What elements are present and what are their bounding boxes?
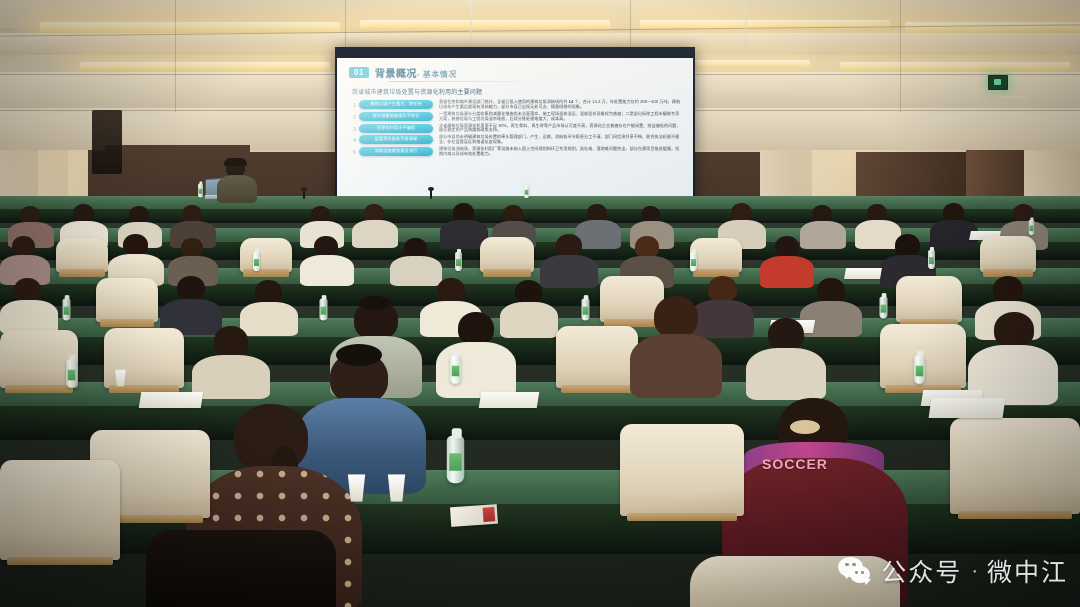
paper-sheet — [479, 392, 540, 408]
microphone — [430, 190, 432, 199]
booklet — [450, 504, 498, 527]
item-paragraph: 我省住房和城乡建设部门统计，全省已投入使用的建筑垃圾消纳场所共 14 个，合计 … — [433, 100, 683, 110]
attendee — [192, 326, 270, 396]
item-badge: 建筑垃圾产生量大、增长快 — [359, 100, 433, 109]
water-bottle — [690, 252, 697, 271]
table-skirt — [0, 209, 1080, 223]
hair-clip-icon — [360, 296, 390, 310]
water-bottle — [455, 252, 462, 271]
slide-item: 2 源头减量措施落实不到位 一是建筑垃圾源头分类收集和减量化措施尚未全面落实，施… — [350, 112, 683, 122]
jacket-text: SOCCER — [762, 456, 828, 472]
projector-screen: 01 背景概况- 基本情况 我省城市建筑垃圾处置与资源化利用的主要问题 1 建筑… — [337, 58, 693, 208]
chair — [0, 460, 120, 560]
wall-trim — [1000, 96, 1028, 98]
water-bottle — [66, 359, 77, 388]
slide-item: 3 资源化利用水平偏低 全省建筑垃圾资源化利用率不足 30%，再生骨料、再生砖等… — [350, 124, 683, 134]
ceiling-light-cove — [840, 62, 1070, 71]
chair — [950, 418, 1080, 514]
item-index: 4 — [350, 135, 359, 144]
hair-tie-icon — [790, 420, 820, 434]
item-badge: 消纳设施规划建设滞后 — [359, 147, 433, 156]
item-paragraph: 全省建筑垃圾资源化利用率不足 30%，再生骨料、再生砖等产品市场认可度不高，资源… — [433, 124, 683, 134]
water-bottle — [62, 299, 70, 321]
hair-scrunchie-icon — [336, 344, 382, 366]
item-paragraph: 部分市县尚未明确建筑垃圾处置的牵头管理部门，产生、运输、消纳各环节职责分工不清，… — [433, 135, 683, 145]
item-badge: 资源化利用水平偏低 — [359, 124, 433, 133]
attendee — [930, 203, 978, 247]
attendee — [108, 234, 164, 284]
slide-number-badge: 01 — [349, 67, 369, 78]
water-bottle — [1029, 220, 1035, 235]
presentation-slide: 01 背景概况- 基本情况 我省城市建筑垃圾处置与资源化利用的主要问题 1 建筑… — [337, 58, 693, 208]
water-bottle — [914, 355, 925, 384]
title-underline — [389, 81, 539, 82]
slide-item: 5 消纳设施规划建设滞后 建筑垃圾消纳场、资源化利用厂等设施未纳入国土空间规划和… — [350, 147, 683, 157]
attendee — [0, 236, 50, 282]
item-paragraph: 建筑垃圾消纳场、资源化利用厂等设施未纳入国土空间规划和环卫专项规划，选址难、落地… — [433, 147, 683, 157]
item-badge: 监管责任链条不够清晰 — [359, 135, 433, 144]
attendee — [436, 312, 516, 396]
table-top — [0, 196, 1080, 210]
attendee — [0, 278, 58, 332]
slide-item: 4 监管责任链条不够清晰 部分市县尚未明确建筑垃圾处置的牵头管理部门，产生、运输… — [350, 135, 683, 145]
water-bottle — [253, 252, 260, 271]
attendee — [540, 234, 598, 286]
water-bottle — [447, 436, 465, 484]
watermark-separator: · — [971, 560, 978, 583]
paper-sheet — [929, 398, 1006, 418]
ceiling-light-cove — [80, 62, 330, 71]
chair — [556, 326, 638, 388]
water-bottle — [581, 299, 589, 321]
presenter — [215, 160, 259, 202]
item-badge: 源头减量措施落实不到位 — [359, 112, 433, 121]
water-bottle — [450, 355, 461, 384]
attendee — [968, 312, 1058, 402]
watermark: 公众号 · 微中江 — [838, 553, 1068, 589]
chair — [104, 328, 184, 388]
chair — [690, 238, 742, 272]
attendee — [440, 203, 488, 247]
wechat-logo-icon — [838, 557, 872, 585]
water-bottle — [319, 299, 327, 321]
water-bottle — [928, 250, 935, 269]
item-index: 1 — [350, 100, 359, 109]
chair — [620, 424, 744, 516]
attendee — [746, 318, 826, 398]
watermark-account: 微中江 — [987, 553, 1068, 589]
chair — [56, 238, 108, 272]
attendee — [630, 296, 722, 396]
item-index: 5 — [350, 147, 359, 156]
item-index: 3 — [350, 124, 359, 133]
exit-sign-icon — [988, 75, 1008, 90]
slide-title: 背景概况- 基本情况 — [375, 65, 457, 80]
wall-speaker — [92, 110, 122, 174]
chair-silhouette — [146, 530, 336, 607]
slide-lead-text: 我省城市建筑垃圾处置与资源化利用的主要问题 — [352, 87, 683, 96]
item-paragraph: 一是建筑垃圾源头分类收集和减量化措施尚未全面落实，施工现场混装混运、混收混处现象… — [433, 112, 683, 122]
slide-item: 1 建筑垃圾产生量大、增长快 我省住房和城乡建设部门统计，全省已投入使用的建筑垃… — [350, 100, 683, 110]
slide-item-list: 1 建筑垃圾产生量大、增长快 我省住房和城乡建设部门统计，全省已投入使用的建筑垃… — [350, 100, 683, 157]
water-bottle — [198, 184, 203, 198]
attendee — [300, 236, 354, 284]
presenter-cap-icon — [224, 158, 247, 166]
chair — [896, 276, 962, 322]
ceiling-light-cove — [360, 20, 610, 30]
water-bottle — [524, 185, 529, 198]
watermark-prefix: 公众号 — [881, 553, 962, 589]
chair — [980, 236, 1036, 272]
chair — [96, 278, 158, 322]
microphone — [303, 190, 305, 199]
chair — [480, 237, 534, 272]
conference-room-photo: 01 背景概况- 基本情况 我省城市建筑垃圾处置与资源化利用的主要问题 1 建筑… — [0, 0, 1080, 607]
item-index: 2 — [350, 112, 359, 121]
chair — [240, 238, 292, 272]
slide-header: 01 背景概况- 基本情况 — [349, 65, 683, 80]
presenter-body — [217, 175, 257, 203]
water-bottle — [879, 297, 887, 319]
ceiling-light-cove — [40, 22, 340, 33]
